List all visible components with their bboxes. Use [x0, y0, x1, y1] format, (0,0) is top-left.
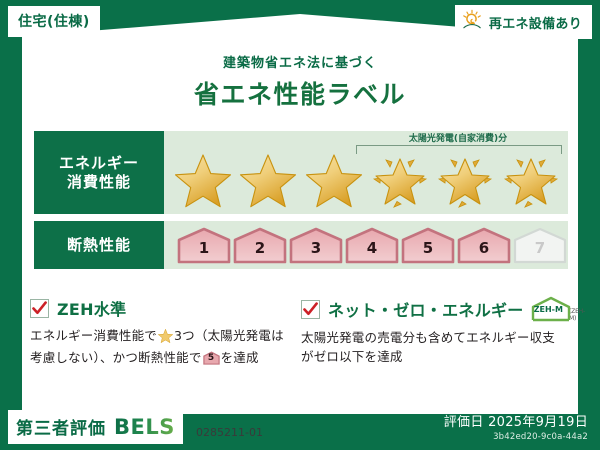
- star-icon: [304, 148, 364, 210]
- energy-row-label: エネルギー 消費性能: [34, 131, 164, 214]
- house-grade-number: 2: [232, 239, 288, 257]
- evaluation-date-label: 評価日: [444, 415, 484, 430]
- house-grade-icon: 5: [400, 226, 456, 264]
- claims-section: ZEH水準 エネルギー消費性能で3つ（太陽光発電は考慮しない）、かつ断熱性能で5…: [30, 296, 572, 368]
- title-main: 省エネ性能ラベル: [0, 75, 600, 111]
- insulation-performance-row: 断熱性能 1 2: [34, 221, 568, 269]
- third-party-eval-label: 第三者評価: [16, 414, 106, 439]
- house-grade-number: 6: [456, 239, 512, 257]
- house-grade-number: 7: [512, 239, 568, 257]
- star-solar-icon: [501, 148, 561, 210]
- claim-zeh-text-post: を達成: [221, 350, 259, 365]
- bels-brand: BELS: [114, 415, 175, 439]
- house-grade-number: 5: [400, 239, 456, 257]
- checkbox-zeh[interactable]: [30, 299, 49, 318]
- house-grade-icon: 2: [232, 226, 288, 264]
- claim-zeh-text-pre: エネルギー消費性能で: [30, 328, 157, 343]
- house-grade-icon: 3: [288, 226, 344, 264]
- claim-nze-title: ネット・ゼロ・エネルギー: [328, 297, 524, 321]
- star-icon: [238, 148, 298, 210]
- house-grade-icon: 4: [344, 226, 400, 264]
- energy-label-root: 住宅(住棟) 再エネ設備あり 建築物省エネ法に基づく 省エネ性能ラベル: [0, 0, 600, 450]
- title-subtitle: 建築物省エネ法に基づく: [0, 52, 600, 71]
- bels-footer-badge: 第三者評価 BELS: [8, 410, 183, 444]
- claim-zeh: ZEH水準 エネルギー消費性能で3つ（太陽光発電は考慮しない）、かつ断熱性能で5…: [30, 296, 301, 368]
- energy-label-line1: エネルギー: [59, 154, 139, 173]
- zeh-m-logo-sub: (ZEH-M): [569, 308, 590, 322]
- certificate-number: 0285211-01: [196, 426, 263, 439]
- claim-zeh-body: エネルギー消費性能で3つ（太陽光発電は考慮しない）、かつ断熱性能で5を達成: [30, 326, 291, 368]
- insulation-row-body: 1 2 3: [164, 221, 568, 269]
- house-grade-icon: 6: [456, 226, 512, 264]
- sun-renewable-icon: [461, 9, 483, 35]
- star-solar-icon: [435, 148, 495, 210]
- house-grade-number: 4: [344, 239, 400, 257]
- energy-performance-row: エネルギー 消費性能 太陽光発電(自家消費)分: [34, 131, 568, 214]
- claim-zeh-header: ZEH水準: [30, 296, 291, 320]
- zeh-m-logo: ZEH-M (ZEH-M): [530, 296, 590, 322]
- checkbox-net-zero-energy[interactable]: [301, 300, 320, 319]
- renewable-badge-label: 再エネ設備あり: [489, 13, 582, 32]
- energy-star-rating: [170, 145, 564, 212]
- insulation-grade-scale: 1 2 3: [172, 221, 560, 269]
- energy-row-body: 太陽光発電(自家消費)分: [164, 131, 568, 214]
- house-grade-number: 3: [288, 239, 344, 257]
- page-title: 建築物省エネ法に基づく 省エネ性能ラベル: [0, 52, 600, 111]
- house-grade-icon: 1: [176, 226, 232, 264]
- house-grade-inline-number: 5: [203, 352, 220, 365]
- claim-net-zero-energy: ネット・ゼロ・エネルギー ZEH-M (ZEH-M) 太陽光発電の売電分も含めて…: [301, 296, 572, 368]
- house-grade-icon-inline: 5: [203, 351, 220, 365]
- claim-zeh-title: ZEH水準: [57, 296, 126, 320]
- claim-nze-header: ネット・ゼロ・エネルギー ZEH-M (ZEH-M): [301, 296, 562, 322]
- claim-nze-body: 太陽光発電の売電分も含めてエネルギー収支がゼロ以下を達成: [301, 328, 562, 367]
- evaluation-date: 評価日 2025年9月19日: [444, 411, 588, 430]
- insulation-row-label: 断熱性能: [34, 221, 164, 269]
- evaluation-info: 評価日 2025年9月19日 3b42ed20-9c0a-44a2: [444, 411, 588, 442]
- energy-label-line2: 消費性能: [67, 173, 131, 192]
- building-type-tag: 住宅(住棟): [8, 6, 100, 37]
- house-grade-icon-inactive: 7: [512, 226, 568, 264]
- evaluation-uid: 3b42ed20-9c0a-44a2: [444, 432, 588, 442]
- house-grade-number: 1: [176, 239, 232, 257]
- zeh-m-logo-text: ZEH-M: [530, 305, 567, 314]
- solar-annotation-label: 太陽光発電(自家消費)分: [354, 131, 562, 144]
- star-solar-icon: [370, 148, 430, 210]
- performance-rows: エネルギー 消費性能 太陽光発電(自家消費)分: [34, 131, 568, 276]
- renewable-equipment-badge: 再エネ設備あり: [455, 5, 592, 39]
- evaluation-date-value: 2025年9月19日: [488, 415, 588, 430]
- star-icon: [173, 148, 233, 210]
- star-icon: [158, 328, 173, 348]
